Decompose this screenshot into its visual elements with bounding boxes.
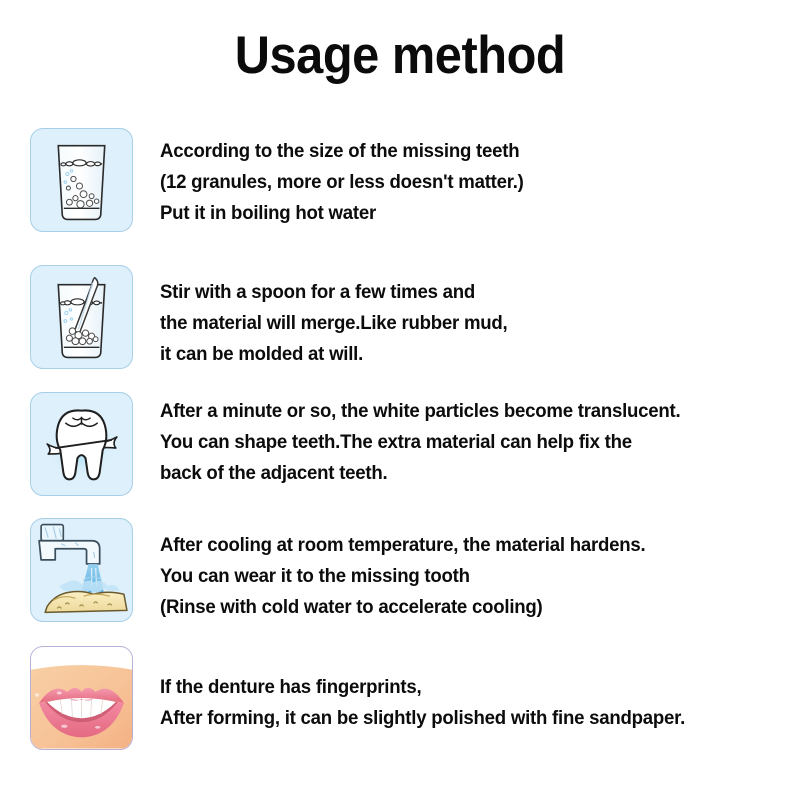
step-2-text: Stir with a spoon for a few times and th… [160, 277, 764, 370]
step-3-line-2: You can shape teeth.The extra material c… [160, 427, 764, 458]
cartoon-tooth-icon [30, 392, 133, 496]
step-2-line-2: the material will merge.Like rubber mud, [160, 308, 764, 339]
glass-with-spoon-icon [30, 265, 133, 369]
faucet-washing-hands-icon [30, 518, 133, 622]
step-4-line-3: (Rinse with cold water to accelerate coo… [160, 592, 764, 623]
step-1-line-1: According to the size of the missing tee… [160, 136, 764, 167]
step-2-line-3: it can be molded at will. [160, 339, 764, 370]
step-5-text: If the denture has fingerprints, After f… [160, 672, 764, 734]
step-3-text: After a minute or so, the white particle… [160, 396, 764, 489]
step-4-line-1: After cooling at room temperature, the m… [160, 530, 764, 561]
usage-method-infographic: Usage method [0, 0, 800, 800]
step-4-text: After cooling at room temperature, the m… [160, 530, 764, 623]
page-title: Usage method [32, 28, 768, 84]
glass-of-water-icon [30, 128, 133, 232]
step-5-line-1: If the denture has fingerprints, [160, 672, 764, 703]
step-5-line-2: After forming, it can be slightly polish… [160, 703, 764, 734]
step-3-line-1: After a minute or so, the white particle… [160, 396, 764, 427]
step-2-line-1: Stir with a spoon for a few times and [160, 277, 764, 308]
step-4-line-2: You can wear it to the missing tooth [160, 561, 764, 592]
smiling-mouth-teeth-icon [30, 646, 133, 750]
step-1-line-3: Put it in boiling hot water [160, 198, 764, 229]
step-1-line-2: (12 granules, more or less doesn't matte… [160, 167, 764, 198]
step-3-line-3: back of the adjacent teeth. [160, 458, 764, 489]
step-1-text: According to the size of the missing tee… [160, 136, 764, 229]
